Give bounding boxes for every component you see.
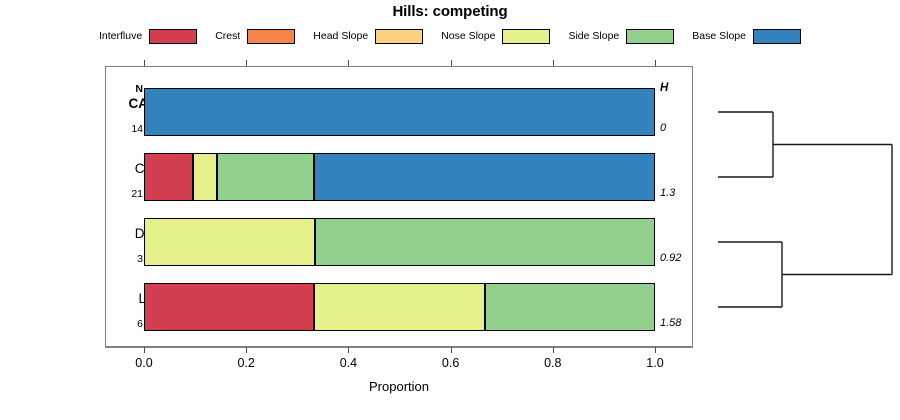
x-axis-tick bbox=[451, 347, 452, 353]
x-axis-tick-top bbox=[144, 60, 145, 66]
legend-item: Base Slope bbox=[692, 29, 801, 44]
legend-item: Head Slope bbox=[313, 29, 423, 44]
x-axis-tick-top bbox=[348, 60, 349, 66]
legend-item-label: Side Slope bbox=[568, 30, 619, 42]
legend-item: Crest bbox=[215, 29, 295, 44]
bar-segment bbox=[144, 283, 314, 331]
bar-segment bbox=[144, 218, 315, 266]
x-axis-tick-label: 0.2 bbox=[226, 356, 266, 370]
legend-item: Side Slope bbox=[568, 29, 674, 44]
bar-segment bbox=[144, 153, 193, 201]
legend-item-label: Interfluve bbox=[99, 30, 142, 42]
legend-color-swatch bbox=[502, 29, 550, 44]
bar-segment bbox=[314, 283, 485, 331]
x-axis-tick-label: 0.8 bbox=[533, 356, 573, 370]
bar-segment bbox=[314, 153, 655, 201]
x-axis-tick-label: 1.0 bbox=[635, 356, 675, 370]
x-axis-tick bbox=[553, 347, 554, 353]
x-axis-tick-top bbox=[655, 60, 656, 66]
dendrogram bbox=[693, 66, 900, 347]
bar-segment bbox=[217, 153, 314, 201]
bar-segment bbox=[485, 283, 655, 331]
bar-segment bbox=[144, 88, 655, 136]
x-axis-tick-label: 0.4 bbox=[328, 356, 368, 370]
x-axis-tick bbox=[655, 347, 656, 353]
x-axis-tick-top bbox=[553, 60, 554, 66]
legend-item-label: Base Slope bbox=[692, 30, 746, 42]
x-axis-tick-label: 0.6 bbox=[431, 356, 471, 370]
x-axis-title: Proportion bbox=[105, 379, 693, 394]
x-axis-tick bbox=[144, 347, 145, 353]
legend-color-swatch bbox=[626, 29, 674, 44]
x-axis-tick-top bbox=[451, 60, 452, 66]
legend-color-swatch bbox=[375, 29, 423, 44]
legend-item: Nose Slope bbox=[441, 29, 550, 44]
bar-segment bbox=[315, 218, 655, 266]
legend-color-swatch bbox=[753, 29, 801, 44]
legend-item-label: Nose Slope bbox=[441, 30, 495, 42]
legend-item-label: Head Slope bbox=[313, 30, 368, 42]
legend-item: Interfluve bbox=[99, 29, 197, 44]
legend-item-label: Crest bbox=[215, 30, 240, 42]
x-axis-tick-top bbox=[246, 60, 247, 66]
legend-color-swatch bbox=[149, 29, 197, 44]
x-axis-line bbox=[105, 347, 693, 348]
chart-root: Hills: competing InterfluveCrestHead Slo… bbox=[0, 0, 900, 420]
x-axis-tick bbox=[246, 347, 247, 353]
bar-segment bbox=[193, 153, 218, 201]
chart-legend: InterfluveCrestHead SlopeNose SlopeSide … bbox=[0, 26, 900, 46]
x-axis-tick-label: 0.0 bbox=[124, 356, 164, 370]
chart-title: Hills: competing bbox=[0, 3, 900, 20]
x-axis-tick bbox=[348, 347, 349, 353]
legend-color-swatch bbox=[247, 29, 295, 44]
